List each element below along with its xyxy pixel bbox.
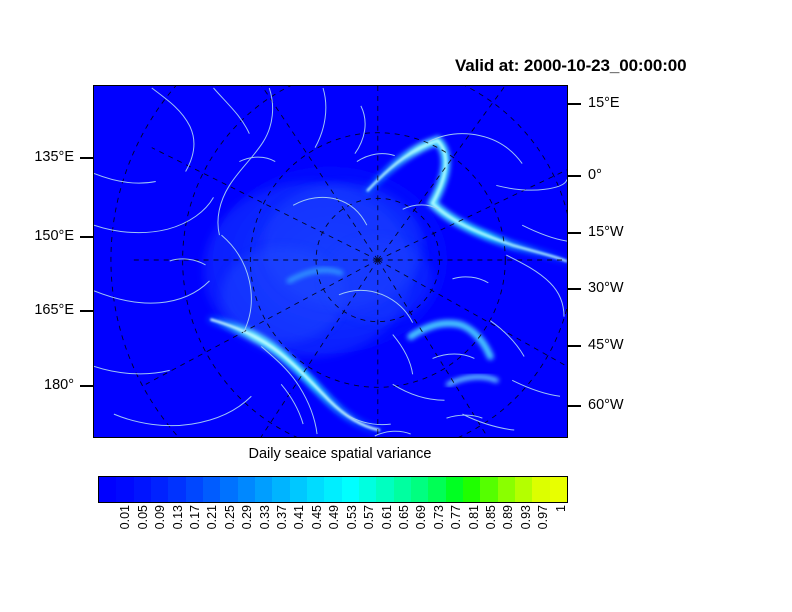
axis-tick-right	[568, 405, 581, 407]
axis-label-left: 150°E	[0, 229, 74, 244]
axis-label-right: 15°E	[588, 96, 620, 111]
colorbar-swatch	[290, 477, 307, 502]
colorbar-tick-label: 0.53	[346, 505, 359, 529]
colorbar-swatch	[498, 477, 515, 502]
axis-label-left: 180°	[0, 378, 74, 393]
colorbar-swatch	[134, 477, 151, 502]
colorbar-swatch	[220, 477, 237, 502]
axis-label-right: 60°W	[588, 398, 624, 413]
colorbar-tick-labels: 0.010.050.090.130.170.210.250.290.330.37…	[98, 505, 568, 565]
colorbar-tick-label: 0.01	[119, 505, 132, 529]
colorbar-tick-label: 0.33	[259, 505, 272, 529]
colorbar-tick-label: 0.69	[415, 505, 428, 529]
map-canvas	[94, 86, 567, 437]
colorbar-tick-label: 0.37	[276, 505, 289, 529]
axis-tick-right	[568, 288, 581, 290]
colorbar-tick-label: 0.57	[363, 505, 376, 529]
axis-label-right: 45°W	[588, 338, 624, 353]
colorbar-swatch	[186, 477, 203, 502]
axis-label-right: 30°W	[588, 281, 624, 296]
colorbar-tick-label: 0.21	[206, 505, 219, 529]
colorbar-tick-label: 0.45	[311, 505, 324, 529]
colorbar-swatch	[324, 477, 341, 502]
colorbar-swatch	[428, 477, 445, 502]
axis-tick-right	[568, 232, 581, 234]
colorbar-tick-label: 0.17	[189, 505, 202, 529]
colorbar	[98, 476, 568, 503]
colorbar-tick-label: 1	[555, 505, 568, 512]
colorbar-tick-label: 0.49	[328, 505, 341, 529]
colorbar-tick-label: 0.89	[502, 505, 515, 529]
axis-label-right: 0°	[588, 168, 602, 183]
axis-tick-right	[568, 175, 581, 177]
page-title: Valid at: 2000-10-23_00:00:00	[455, 56, 686, 76]
colorbar-tick-label: 0.81	[468, 505, 481, 529]
colorbar-caption: Daily seaice spatial variance	[0, 446, 680, 462]
colorbar-tick-label: 0.93	[520, 505, 533, 529]
colorbar-swatch	[307, 477, 324, 502]
colorbar-tick-label: 0.09	[154, 505, 167, 529]
colorbar-swatch	[394, 477, 411, 502]
colorbar-swatch	[532, 477, 549, 502]
colorbar-swatch	[168, 477, 185, 502]
axis-label-left: 165°E	[0, 303, 74, 318]
colorbar-swatch	[238, 477, 255, 502]
colorbar-tick-label: 0.05	[137, 505, 150, 529]
colorbar-swatch	[515, 477, 532, 502]
colorbar-swatch	[446, 477, 463, 502]
colorbar-tick-label: 0.77	[450, 505, 463, 529]
colorbar-tick-label: 0.41	[293, 505, 306, 529]
colorbar-swatch	[151, 477, 168, 502]
axis-tick-left	[80, 157, 93, 159]
colorbar-tick-label: 0.25	[224, 505, 237, 529]
axis-tick-left	[80, 385, 93, 387]
colorbar-swatch	[255, 477, 272, 502]
axis-label-left: 135°E	[0, 150, 74, 165]
colorbar-swatch	[411, 477, 428, 502]
colorbar-swatch	[272, 477, 289, 502]
axis-label-right: 15°W	[588, 225, 624, 240]
axis-tick-right	[568, 103, 581, 105]
colorbar-tick-label: 0.73	[433, 505, 446, 529]
axis-tick-right	[568, 345, 581, 347]
colorbar-tick-label: 0.85	[485, 505, 498, 529]
colorbar-swatch	[342, 477, 359, 502]
colorbar-swatch	[550, 477, 567, 502]
colorbar-tick-label: 0.13	[172, 505, 185, 529]
colorbar-tick-label: 0.29	[241, 505, 254, 529]
colorbar-swatch	[359, 477, 376, 502]
colorbar-swatch	[203, 477, 220, 502]
colorbar-swatch	[463, 477, 480, 502]
colorbar-swatch	[480, 477, 497, 502]
map-plot-area	[93, 85, 568, 438]
colorbar-swatch	[376, 477, 393, 502]
axis-tick-left	[80, 310, 93, 312]
colorbar-tick-label: 0.61	[381, 505, 394, 529]
axis-tick-left	[80, 236, 93, 238]
colorbar-tick-label: 0.97	[537, 505, 550, 529]
colorbar-swatch	[99, 477, 116, 502]
colorbar-tick-label: 0.65	[398, 505, 411, 529]
colorbar-swatch	[116, 477, 133, 502]
